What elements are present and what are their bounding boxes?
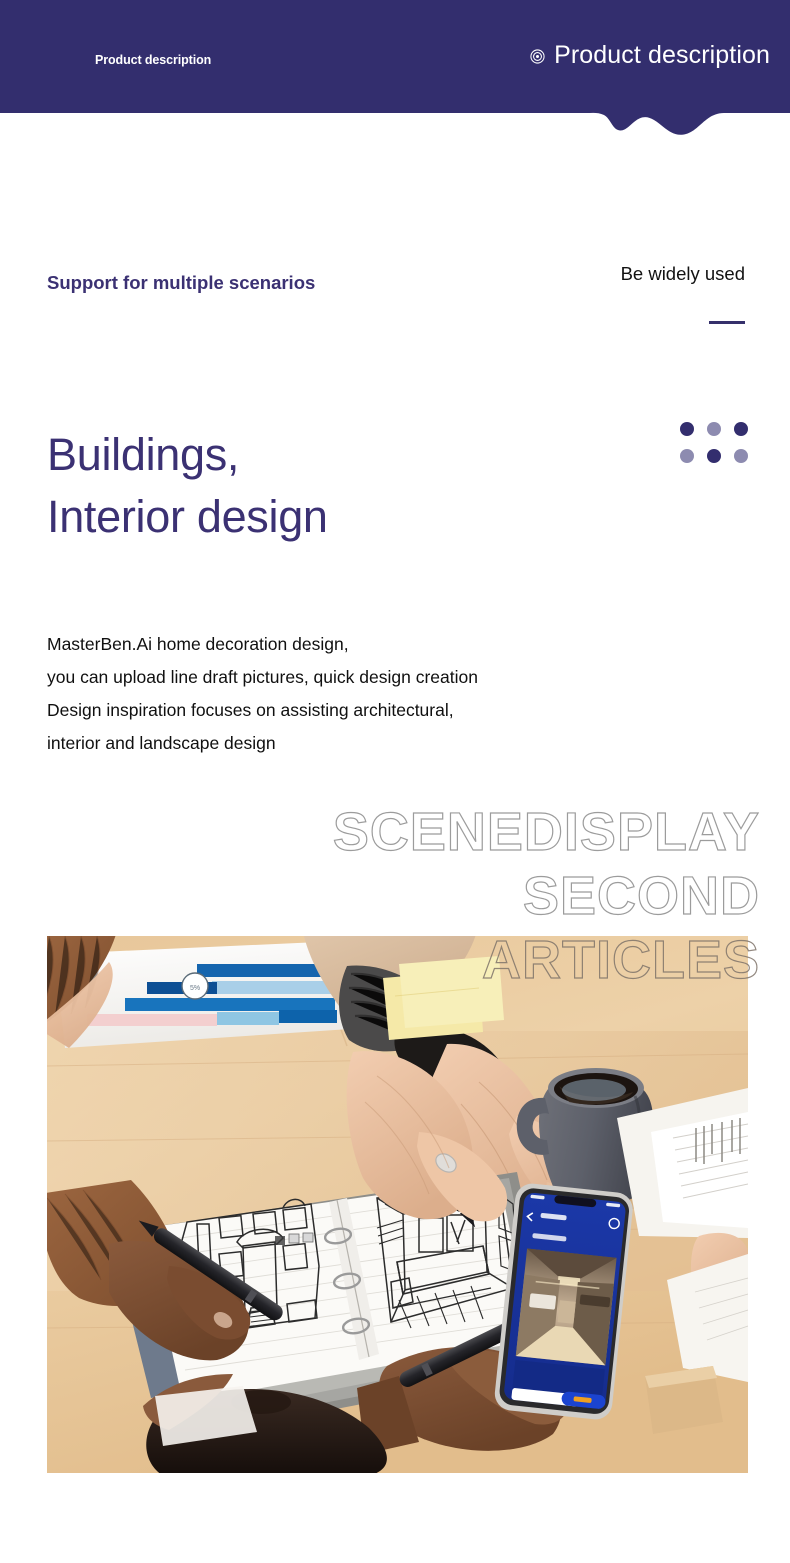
header-background-shape — [0, 0, 790, 152]
dot-3 — [734, 422, 748, 436]
body-line-3: Design inspiration focuses on assisting … — [47, 694, 478, 727]
watermark-line-1: SCENEDISPLAY — [0, 800, 760, 864]
page-header: Product description Product description — [0, 0, 790, 152]
body-paragraph: MasterBen.Ai home decoration design, you… — [47, 628, 478, 760]
svg-text:5%: 5% — [190, 985, 200, 992]
dot-5 — [707, 449, 721, 463]
scene-photo: 5% — [47, 936, 748, 1473]
body-line-2: you can upload line draft pictures, quic… — [47, 661, 478, 694]
watermark-line-2: SECOND — [0, 864, 760, 928]
dot-4 — [680, 449, 694, 463]
decorative-dot-grid — [680, 422, 748, 463]
target-icon — [530, 49, 545, 64]
section-heading-line-1: Buildings, — [47, 424, 328, 486]
subhead-left: Support for multiple scenarios — [47, 262, 337, 303]
subhead-right: Be widely used — [621, 263, 745, 285]
header-small-label: Product description — [95, 53, 211, 67]
wood-block — [645, 1366, 723, 1434]
dot-6 — [734, 449, 748, 463]
dot-2 — [707, 422, 721, 436]
header-title-group: Product description — [530, 41, 770, 70]
dot-1 — [680, 422, 694, 436]
body-line-1: MasterBen.Ai home decoration design, — [47, 628, 478, 661]
section-heading-line-2: Interior design — [47, 486, 328, 548]
smartphone — [493, 1182, 634, 1421]
scene-photo-illustration: 5% — [47, 936, 748, 1473]
page-title: Product description — [554, 41, 770, 70]
subhead-accent-dash — [709, 321, 745, 324]
section-heading: Buildings, Interior design — [47, 424, 328, 548]
body-line-4: interior and landscape design — [47, 727, 478, 760]
